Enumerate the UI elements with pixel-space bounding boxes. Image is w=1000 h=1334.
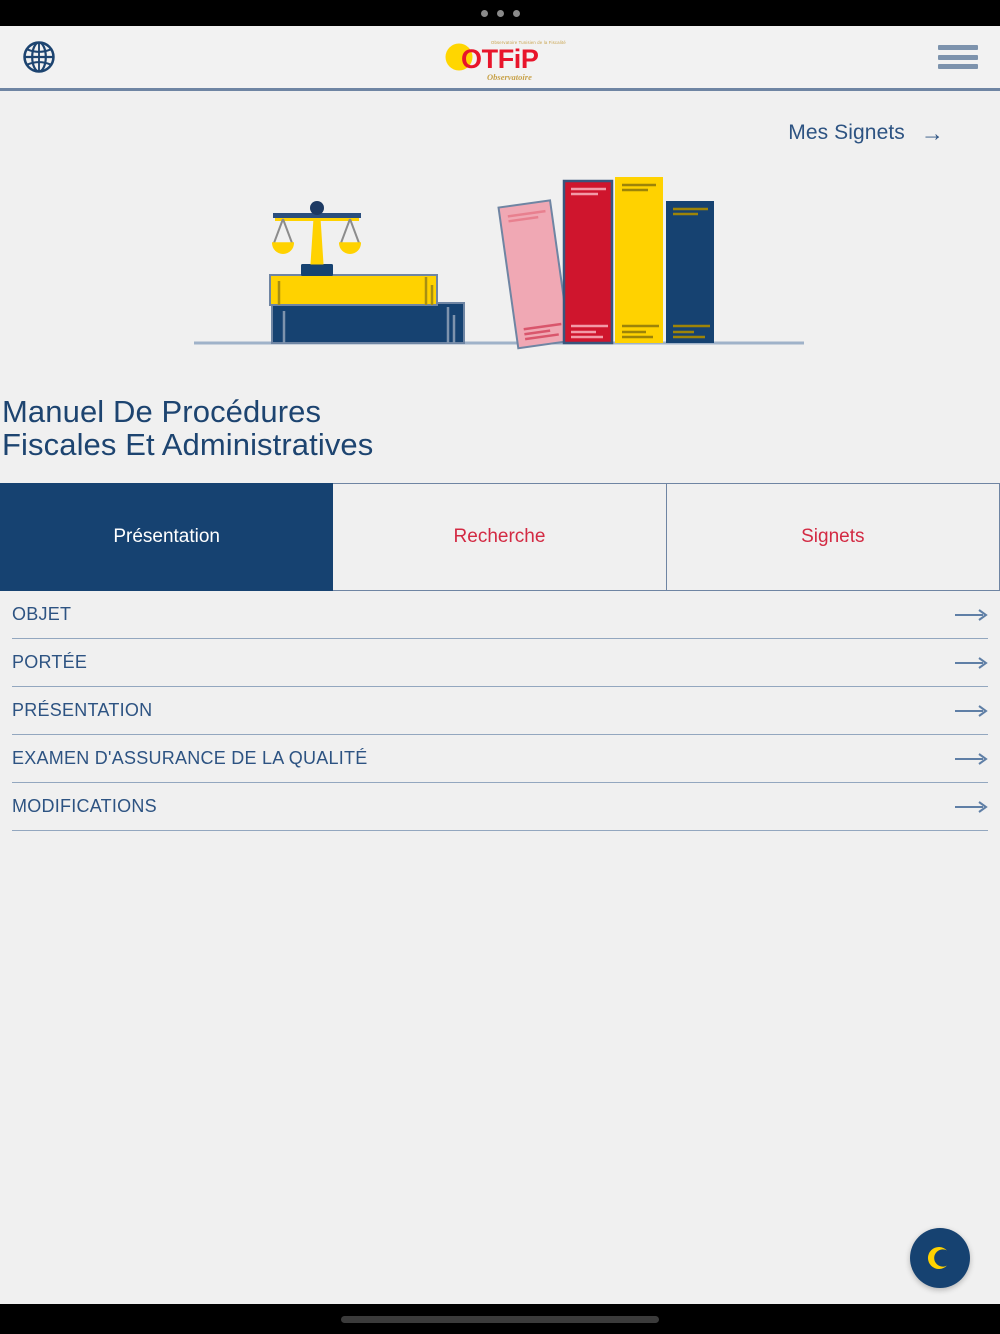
tab-recherche-label: Recherche [454,526,546,548]
page-title-line-2: Fiscales Et Administratives [2,427,373,462]
os-status-bar [0,0,1000,26]
arrow-right-icon [954,800,988,814]
globe-icon [22,40,56,74]
tab-recherche[interactable]: Recherche [333,483,666,591]
hamburger-bar [938,64,978,69]
list-item-label: MODIFICATIONS [12,796,157,817]
tab-presentation[interactable]: Présentation [0,483,333,591]
list-item[interactable]: PRÉSENTATION [12,687,988,735]
tab-bar: Présentation Recherche Signets [0,483,1000,591]
scale-and-books-illustration [190,163,810,363]
tab-signets[interactable]: Signets [667,483,1000,591]
status-dot [497,10,504,17]
list-item[interactable]: OBJET [12,591,988,639]
otfip-logo-icon: OTFiP Observatoire Tunisien de la Fiscal… [425,27,575,87]
tab-signets-label: Signets [801,526,864,548]
status-dot [513,10,520,17]
home-indicator[interactable] [341,1316,659,1323]
arrow-right-icon [954,656,988,670]
bookmark-row: Mes Signets → [0,91,1000,145]
list-item[interactable]: PORTÉE [12,639,988,687]
my-bookmarks-link[interactable]: Mes Signets → [788,121,944,145]
arrow-right-icon [954,704,988,718]
arrow-right-icon: → [921,122,944,145]
section-list: OBJET PORTÉE PRÉSENTATION EXAMEN D'ASSUR… [0,591,1000,831]
page-title-line-1: Manuel De Procédures [2,394,321,429]
tab-presentation-label: Présentation [113,526,220,548]
os-home-bar [0,1304,1000,1334]
menu-button[interactable] [938,43,978,71]
hero-illustration [0,163,1000,373]
hamburger-bar [938,55,978,60]
list-item-label: OBJET [12,604,71,625]
arrow-right-icon [954,608,988,622]
language-globe-button[interactable] [22,40,56,74]
svg-text:OTFiP: OTFiP [461,44,539,74]
dark-mode-toggle-button[interactable] [910,1228,970,1288]
list-item-label: PORTÉE [12,652,87,673]
arrow-right-icon [954,752,988,766]
list-item[interactable]: EXAMEN D'ASSURANCE DE LA QUALITÉ [12,735,988,783]
my-bookmarks-label: Mes Signets [788,121,905,145]
svg-text:Observatoire Tunisien de la Fi: Observatoire Tunisien de la Fiscalité [491,40,566,45]
list-item-label: PRÉSENTATION [12,700,152,721]
svg-text:Observatoire: Observatoire [487,72,532,82]
list-item[interactable]: MODIFICATIONS [12,783,988,831]
status-dot [481,10,488,17]
list-item-label: EXAMEN D'ASSURANCE DE LA QUALITÉ [12,748,368,769]
otfip-logo[interactable]: OTFiP Observatoire Tunisien de la Fiscal… [425,27,575,87]
app-header: OTFiP Observatoire Tunisien de la Fiscal… [0,26,1000,91]
moon-icon [924,1242,956,1274]
page-title: Manuel De Procédures Fiscales Et Adminis… [0,373,1000,461]
hamburger-bar [938,45,978,50]
